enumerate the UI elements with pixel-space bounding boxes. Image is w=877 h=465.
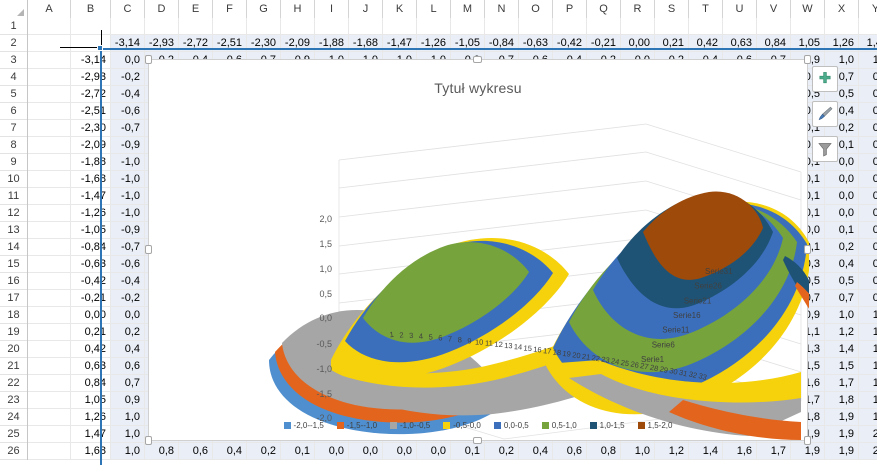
cell-S1[interactable]	[655, 18, 689, 35]
legend-label: 0,0-0,5	[504, 421, 529, 430]
selection-top-border	[101, 48, 877, 50]
cell-A6[interactable]	[28, 103, 71, 120]
cell-B23[interactable]: 1,05	[71, 392, 111, 409]
cell-W1[interactable]	[791, 18, 825, 35]
cell-B16[interactable]: -0,42	[71, 273, 111, 290]
cell-S26[interactable]: 1,2	[655, 443, 689, 460]
cell-B17[interactable]: -0,21	[71, 290, 111, 307]
cell-T1[interactable]	[689, 18, 723, 35]
cell-C6[interactable]: -0,6	[111, 103, 145, 120]
cell-A15[interactable]	[28, 256, 71, 273]
cell-A3[interactable]	[28, 52, 71, 69]
column-header-m[interactable]: M	[451, 0, 485, 18]
column-header-a[interactable]: A	[28, 0, 71, 18]
cell-R1[interactable]	[621, 18, 655, 35]
chart-plot-area: 2,0 1,5 1,0 0,5 0,0 -0,5 -1,0 -1,5 -2,0 …	[149, 60, 809, 442]
cell-Q1[interactable]	[587, 18, 621, 35]
legend-swatch-icon	[443, 422, 450, 429]
select-all-corner[interactable]	[0, 0, 28, 18]
cell-X19[interactable]: 1,2	[825, 324, 859, 341]
column-header-v[interactable]: V	[757, 0, 791, 18]
cell-Y15[interactable]: 0,4	[859, 256, 877, 273]
cell-C14[interactable]: -0,7	[111, 239, 145, 256]
x-tick-16: 16	[533, 345, 542, 355]
cell-E26[interactable]: 0,6	[179, 443, 213, 460]
column-header-x[interactable]: X	[825, 0, 859, 18]
column-header-c[interactable]: C	[111, 0, 145, 18]
column-header-d[interactable]: D	[145, 0, 179, 18]
column-header-p[interactable]: P	[553, 0, 587, 18]
cell-T26[interactable]: 1,4	[689, 443, 723, 460]
cell-B21[interactable]: 0,63	[71, 358, 111, 375]
cell-R26[interactable]: 1,0	[621, 443, 655, 460]
legend-label: 1,5-2,0	[648, 421, 673, 430]
cell-V26[interactable]: 1,7	[757, 443, 791, 460]
table-row[interactable]	[28, 18, 877, 35]
column-header-j[interactable]: J	[349, 0, 383, 18]
legend-item[interactable]: 0,0-0,5	[494, 421, 529, 430]
cell-C20[interactable]: 0,4	[111, 341, 145, 358]
cell-F1[interactable]	[213, 18, 247, 35]
row-header-2[interactable]: 2	[0, 35, 27, 52]
cell-P1[interactable]	[553, 18, 587, 35]
column-header-f[interactable]: F	[213, 0, 247, 18]
row-header-6[interactable]: 6	[0, 103, 27, 120]
cell-C17[interactable]: -0,2	[111, 290, 145, 307]
cell-Y23[interactable]: 1,9	[859, 392, 877, 409]
cell-Y13[interactable]: 0,1	[859, 222, 877, 239]
svg-text:0,5: 0,5	[319, 289, 332, 299]
column-header-s[interactable]: S	[655, 0, 689, 18]
column-header-l[interactable]: L	[417, 0, 451, 18]
chart-handle-bottom-left[interactable]	[145, 436, 152, 445]
cell-X18[interactable]: 1,0	[825, 307, 859, 324]
cell-Y4[interactable]: 0,8	[859, 69, 877, 86]
cell-A7[interactable]	[28, 120, 71, 137]
cell-J26[interactable]: 0,0	[349, 443, 383, 460]
cell-B25[interactable]: 1,47	[71, 426, 111, 443]
cell-D26[interactable]: 0,8	[145, 443, 179, 460]
chart-handle-top-center[interactable]	[473, 56, 482, 63]
cell-B24[interactable]: 1,26	[71, 409, 111, 426]
legend-item[interactable]: -0,5-0,0	[443, 421, 481, 430]
cell-Y6[interactable]: 0,4	[859, 103, 877, 120]
legend-item[interactable]: -1,5--1,0	[337, 421, 377, 430]
column-header-t[interactable]: T	[689, 0, 723, 18]
legend-label: -2,0--1,5	[294, 421, 324, 430]
cell-B7[interactable]: -2,30	[71, 120, 111, 137]
x-tick-21: 21	[581, 352, 590, 362]
cell-A18[interactable]	[28, 307, 71, 324]
cell-X15[interactable]: 0,4	[825, 256, 859, 273]
cell-Y10[interactable]: 0,0	[859, 171, 877, 188]
cell-G26[interactable]: 0,2	[247, 443, 281, 460]
column-header-b[interactable]: B	[71, 0, 111, 18]
chart-elements-button[interactable]	[812, 66, 838, 92]
cell-B13[interactable]: -1,05	[71, 222, 111, 239]
row-header-25[interactable]: 25	[0, 426, 27, 443]
cell-A21[interactable]	[28, 358, 71, 375]
cell-Y12[interactable]: 0,0	[859, 205, 877, 222]
cell-D1[interactable]	[145, 18, 179, 35]
cell-A5[interactable]	[28, 86, 71, 103]
x-tick-12: 12	[494, 340, 503, 349]
row-header-24[interactable]: 24	[0, 409, 27, 426]
legend-label: -0,5-0,0	[453, 421, 481, 430]
cell-B15[interactable]: -0,63	[71, 256, 111, 273]
cell-A1[interactable]	[28, 18, 71, 35]
series-label-serie1: Serie1	[641, 355, 665, 364]
cell-Y17[interactable]: 0,8	[859, 290, 877, 307]
cell-I26[interactable]: 0,0	[315, 443, 349, 460]
cell-V1[interactable]	[757, 18, 791, 35]
chart-styles-button[interactable]	[812, 101, 838, 127]
cell-Y20[interactable]: 1,4	[859, 341, 877, 358]
chart-handle-top-right[interactable]	[804, 55, 811, 64]
column-header-r[interactable]: R	[621, 0, 655, 18]
row-header-4[interactable]: 4	[0, 69, 27, 86]
cell-J1[interactable]	[349, 18, 383, 35]
cell-C7[interactable]: -0,7	[111, 120, 145, 137]
cell-B1[interactable]	[71, 18, 111, 35]
x-tick-3: 3	[409, 331, 414, 340]
legend-label: 1,0-1,5	[600, 421, 625, 430]
row-header-16[interactable]: 16	[0, 273, 27, 290]
cell-X26[interactable]: 1,9	[825, 443, 859, 460]
cell-A9[interactable]	[28, 154, 71, 171]
cell-C13[interactable]: -0,9	[111, 222, 145, 239]
cell-X13[interactable]: 0,1	[825, 222, 859, 239]
column-header-g[interactable]: G	[247, 0, 281, 18]
cell-X12[interactable]: 0,0	[825, 205, 859, 222]
x-tick-11: 11	[485, 339, 493, 348]
chart-legend[interactable]: -2,0--1,5-1,5--1,0-1,0--0,5-0,5-0,00,0-0…	[149, 421, 807, 430]
cell-X23[interactable]: 1,8	[825, 392, 859, 409]
x-tick-23: 23	[601, 355, 611, 365]
x-tick-22: 22	[591, 353, 601, 363]
row-header-3[interactable]: 3	[0, 52, 27, 69]
cell-N26[interactable]: 0,2	[485, 443, 519, 460]
series-label-serie6: Serie6	[652, 340, 676, 349]
selection-anchor-underline	[60, 47, 102, 48]
cell-B5[interactable]: -2,72	[71, 86, 111, 103]
legend-swatch-icon	[638, 422, 645, 429]
svg-text:-1,5: -1,5	[316, 389, 332, 399]
cell-K26[interactable]: 0,0	[383, 443, 417, 460]
selection-handle[interactable]	[97, 45, 103, 51]
cell-C10[interactable]: -1,0	[111, 171, 145, 188]
cell-M1[interactable]	[451, 18, 485, 35]
cell-H1[interactable]	[281, 18, 315, 35]
cell-A11[interactable]	[28, 188, 71, 205]
surface-3d	[269, 191, 809, 440]
legend-item[interactable]: 1,5-2,0	[638, 421, 673, 430]
funnel-icon	[817, 141, 833, 157]
row-header-20[interactable]: 20	[0, 341, 27, 358]
cell-C19[interactable]: 0,2	[111, 324, 145, 341]
cell-X25[interactable]: 1,9	[825, 426, 859, 443]
cell-B12[interactable]: -1,26	[71, 205, 111, 222]
cell-A19[interactable]	[28, 324, 71, 341]
legend-item[interactable]: 0,5-1,0	[542, 421, 577, 430]
cell-A4[interactable]	[28, 69, 71, 86]
row-header-12[interactable]: 12	[0, 205, 27, 222]
row-header-19[interactable]: 19	[0, 324, 27, 341]
x-tick-17: 17	[543, 346, 552, 356]
cell-B8[interactable]: -2,09	[71, 137, 111, 154]
row-header-18[interactable]: 18	[0, 307, 27, 324]
cell-A20[interactable]	[28, 341, 71, 358]
legend-swatch-icon	[390, 422, 397, 429]
cell-B18[interactable]: 0,00	[71, 307, 111, 324]
x-tick-9: 9	[467, 336, 471, 345]
x-tick-20: 20	[572, 350, 581, 360]
spreadsheet-app: ABCDEFGHIJKLMNOPQRSTUVWXYZAAAB 123456789…	[0, 0, 877, 465]
row-header-13[interactable]: 13	[0, 222, 27, 239]
cell-F26[interactable]: 0,4	[213, 443, 247, 460]
cell-C24[interactable]: 1,0	[111, 409, 145, 426]
cell-C11[interactable]: -1,0	[111, 188, 145, 205]
chart-handle-middle-left[interactable]	[145, 245, 152, 254]
cell-M26[interactable]: 0,1	[451, 443, 485, 460]
chart-handle-middle-right[interactable]	[804, 245, 811, 254]
cell-L1[interactable]	[417, 18, 451, 35]
cell-B3[interactable]: -3,14	[71, 52, 111, 69]
row-header-8[interactable]: 8	[0, 137, 27, 154]
svg-text:1,5: 1,5	[319, 239, 332, 249]
row-header-23[interactable]: 23	[0, 392, 27, 409]
cell-Y14[interactable]: 0,3	[859, 239, 877, 256]
cell-Y5[interactable]: 0,6	[859, 86, 877, 103]
cell-C3[interactable]: 0,0	[111, 52, 145, 69]
cell-B10[interactable]: -1,68	[71, 171, 111, 188]
cell-Y19[interactable]: 1,2	[859, 324, 877, 341]
cell-C1[interactable]	[111, 18, 145, 35]
cell-O26[interactable]: 0,4	[519, 443, 553, 460]
svg-text:-0,5: -0,5	[316, 339, 332, 349]
cell-C26[interactable]: 1,0	[111, 443, 145, 460]
legend-swatch-icon	[542, 422, 549, 429]
cell-B6[interactable]: -2,51	[71, 103, 111, 120]
row-header-10[interactable]: 10	[0, 171, 27, 188]
chart-filters-button[interactable]	[812, 136, 838, 162]
cell-X14[interactable]: 0,2	[825, 239, 859, 256]
cell-X16[interactable]: 0,5	[825, 273, 859, 290]
cell-Y24[interactable]: 1,9	[859, 409, 877, 426]
row-header-9[interactable]: 9	[0, 154, 27, 171]
cell-Y9[interactable]: 0,0	[859, 154, 877, 171]
column-header-w[interactable]: W	[791, 0, 825, 18]
x-tick-2: 2	[399, 330, 404, 339]
row-header-17[interactable]: 17	[0, 290, 27, 307]
legend-swatch-icon	[284, 422, 291, 429]
x-tick-5: 5	[428, 332, 433, 341]
row-header-21[interactable]: 21	[0, 358, 27, 375]
selection-left-border	[100, 48, 102, 465]
x-tick-14: 14	[514, 342, 523, 351]
cell-C4[interactable]: -0,2	[111, 69, 145, 86]
row-header-22[interactable]: 22	[0, 375, 27, 392]
x-tick-18: 18	[552, 348, 561, 358]
row-header-14[interactable]: 14	[0, 239, 27, 256]
x-tick-15: 15	[523, 344, 532, 354]
cell-A23[interactable]	[28, 392, 71, 409]
column-header-y[interactable]: Y	[859, 0, 877, 18]
chart-side-buttons[interactable]	[812, 66, 838, 162]
cell-A10[interactable]	[28, 171, 71, 188]
brush-icon	[816, 105, 834, 123]
cell-C9[interactable]: -1,0	[111, 154, 145, 171]
cell-Y1[interactable]	[859, 18, 877, 35]
x-tick-8: 8	[458, 335, 462, 344]
x-tick-13: 13	[504, 341, 513, 350]
cell-A8[interactable]	[28, 137, 71, 154]
cell-B22[interactable]: 0,84	[71, 375, 111, 392]
plus-icon	[817, 71, 833, 87]
cell-C8[interactable]: -0,9	[111, 137, 145, 154]
cell-B19[interactable]: 0,21	[71, 324, 111, 341]
cell-X24[interactable]: 1,9	[825, 409, 859, 426]
cell-Y21[interactable]: 1,6	[859, 358, 877, 375]
cell-C21[interactable]: 0,6	[111, 358, 145, 375]
z-axis-labels: 2,0 1,5 1,0 0,5 0,0 -0,5 -1,0 -1,5 -2,0	[316, 214, 332, 423]
cell-X11[interactable]: 0,0	[825, 188, 859, 205]
cell-P26[interactable]: 0,6	[553, 443, 587, 460]
cell-A17[interactable]	[28, 290, 71, 307]
column-header-o[interactable]: O	[519, 0, 553, 18]
cell-A2[interactable]	[28, 35, 71, 52]
cell-Y7[interactable]: 0,2	[859, 120, 877, 137]
row-header-7[interactable]: 7	[0, 120, 27, 137]
legend-item[interactable]: -2,0--1,5	[284, 421, 324, 430]
cell-C23[interactable]: 0,9	[111, 392, 145, 409]
cell-E1[interactable]	[179, 18, 213, 35]
column-header-n[interactable]: N	[485, 0, 519, 18]
cell-A24[interactable]	[28, 409, 71, 426]
cell-C5[interactable]: -0,4	[111, 86, 145, 103]
cell-Y8[interactable]: 0,1	[859, 137, 877, 154]
cell-B26[interactable]: 1,68	[71, 443, 111, 460]
legend-swatch-icon	[590, 422, 597, 429]
cell-Y26[interactable]: 2,0	[859, 443, 877, 460]
cell-B14[interactable]: -0,84	[71, 239, 111, 256]
row-header-11[interactable]: 11	[0, 188, 27, 205]
cell-K1[interactable]	[383, 18, 417, 35]
cell-C22[interactable]: 0,7	[111, 375, 145, 392]
row-header-1[interactable]: 1	[0, 18, 27, 35]
series-label-serie26: Serie26	[694, 282, 722, 291]
cell-X22[interactable]: 1,7	[825, 375, 859, 392]
cell-B11[interactable]: -1,47	[71, 188, 111, 205]
column-header-q[interactable]: Q	[587, 0, 621, 18]
cell-Y11[interactable]: 0,0	[859, 188, 877, 205]
x-tick-4: 4	[419, 332, 424, 341]
x-tick-7: 7	[448, 334, 452, 343]
cell-C16[interactable]: -0,4	[111, 273, 145, 290]
cell-Y16[interactable]: 0,6	[859, 273, 877, 290]
cell-X10[interactable]: 0,0	[825, 171, 859, 188]
column-header-h[interactable]: H	[281, 0, 315, 18]
chart-handle-top-left[interactable]	[145, 55, 152, 64]
chart-handle-bottom-center[interactable]	[473, 437, 482, 444]
cell-X17[interactable]: 0,7	[825, 290, 859, 307]
cell-U26[interactable]: 1,6	[723, 443, 757, 460]
cell-A16[interactable]	[28, 273, 71, 290]
row-header-15[interactable]: 15	[0, 256, 27, 273]
cell-A14[interactable]	[28, 239, 71, 256]
cell-A13[interactable]	[28, 222, 71, 239]
chart-object[interactable]: Tytuł wykresu	[148, 59, 808, 441]
cell-Y3[interactable]: 1,0	[859, 52, 877, 69]
row-header-column[interactable]: 1234567891011121314151617181920212223242…	[0, 18, 28, 460]
svg-text:-1,0: -1,0	[316, 364, 332, 374]
x-tick-24: 24	[610, 356, 620, 366]
series-label-serie11: Serie11	[662, 326, 690, 335]
cell-A25[interactable]	[28, 426, 71, 443]
cell-C25[interactable]: 1,0	[111, 426, 145, 443]
cell-O1[interactable]	[519, 18, 553, 35]
row-header-5[interactable]: 5	[0, 86, 27, 103]
legend-label: 0,5-1,0	[552, 421, 577, 430]
cell-A22[interactable]	[28, 375, 71, 392]
cell-N1[interactable]	[485, 18, 519, 35]
legend-swatch-icon	[494, 422, 501, 429]
x-tick-10: 10	[475, 338, 483, 347]
column-header-e[interactable]: E	[179, 0, 213, 18]
cell-I1[interactable]	[315, 18, 349, 35]
cell-C15[interactable]: -0,6	[111, 256, 145, 273]
cell-L26[interactable]: 0,0	[417, 443, 451, 460]
cell-W26[interactable]: 1,9	[791, 443, 825, 460]
cell-X20[interactable]: 1,4	[825, 341, 859, 358]
series-label-serie21: Serie21	[684, 296, 712, 305]
cell-Y22[interactable]: 1,7	[859, 375, 877, 392]
cell-B20[interactable]: 0,42	[71, 341, 111, 358]
row-header-26[interactable]: 26	[0, 443, 27, 460]
cell-B4[interactable]: -2,93	[71, 69, 111, 86]
svg-text:0,0: 0,0	[319, 313, 332, 323]
cell-A12[interactable]	[28, 205, 71, 222]
column-header-k[interactable]: K	[383, 0, 417, 18]
x-tick-26: 26	[630, 359, 640, 369]
x-tick-25: 25	[620, 358, 630, 368]
cell-Y25[interactable]: 2,0	[859, 426, 877, 443]
legend-label: -1,0--0,5	[400, 421, 430, 430]
cell-U1[interactable]	[723, 18, 757, 35]
cell-C12[interactable]: -1,0	[111, 205, 145, 222]
legend-item[interactable]: -1,0--0,5	[390, 421, 430, 430]
cell-G1[interactable]	[247, 18, 281, 35]
cell-C18[interactable]: 0,0	[111, 307, 145, 324]
column-header-u[interactable]: U	[723, 0, 757, 18]
legend-item[interactable]: 1,0-1,5	[590, 421, 625, 430]
x-tick-19: 19	[562, 349, 571, 359]
cell-A26[interactable]	[28, 443, 71, 460]
table-row[interactable]: 1,681,00,80,60,40,20,10,00,00,00,00,10,2…	[28, 443, 877, 460]
column-header-row[interactable]: ABCDEFGHIJKLMNOPQRSTUVWXYZAAAB	[0, 0, 877, 18]
x-tick-6: 6	[438, 333, 443, 342]
cell-B9[interactable]: -1,88	[71, 154, 111, 171]
cell-Y18[interactable]: 1,0	[859, 307, 877, 324]
cell-X1[interactable]	[825, 18, 859, 35]
svg-text:1,0: 1,0	[319, 264, 332, 274]
column-header-i[interactable]: I	[315, 0, 349, 18]
chart-handle-bottom-right[interactable]	[804, 436, 811, 445]
legend-swatch-icon	[337, 422, 344, 429]
cell-H26[interactable]: 0,1	[281, 443, 315, 460]
cell-Q26[interactable]: 0,8	[587, 443, 621, 460]
cell-X21[interactable]: 1,5	[825, 358, 859, 375]
